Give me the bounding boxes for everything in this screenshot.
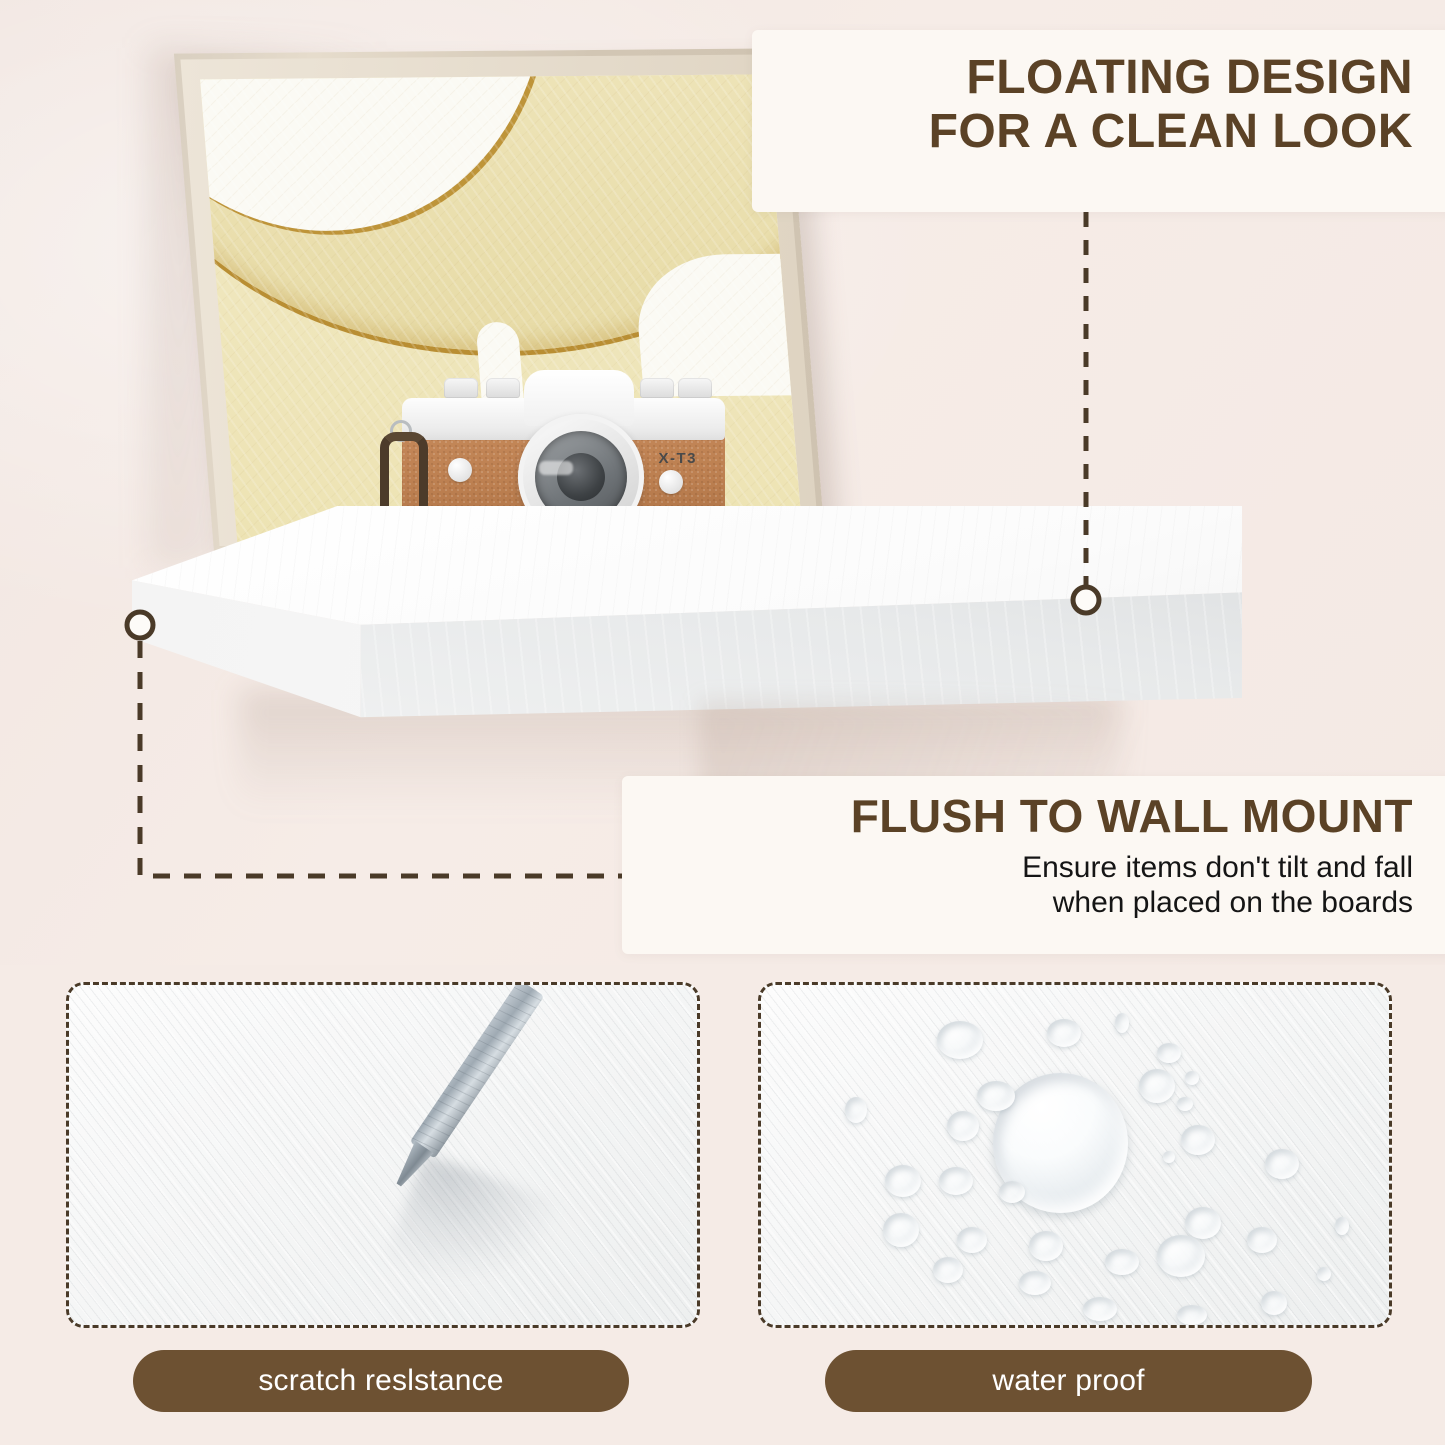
water-droplet (1105, 1249, 1139, 1275)
water-droplet (883, 1213, 919, 1247)
feature-image-scratch-resistance (66, 982, 700, 1328)
callout-title-line-1: FLOATING DESIGN (752, 30, 1445, 104)
water-droplet (1139, 1069, 1175, 1103)
water-droplet (1157, 1235, 1205, 1277)
callout-title-line-1: FLUSH TO WALL MOUNT (622, 776, 1445, 842)
water-droplet (1019, 1271, 1051, 1295)
wood-grain-surface (69, 985, 697, 1325)
camera-lens-reflection (539, 461, 573, 475)
water-droplet (999, 1181, 1025, 1203)
feature-panels: scratch reslstance water proof (0, 968, 1445, 1445)
water-droplet (947, 1111, 979, 1141)
callout-subtitle-line-2: when placed on the boards (622, 885, 1445, 920)
water-droplet (957, 1227, 987, 1253)
water-droplet (1157, 1043, 1181, 1063)
callout-card-floating-design: FLOATING DESIGN FOR A CLEAN LOOK (752, 30, 1445, 212)
camera-dial (640, 378, 674, 398)
water-droplet (1265, 1149, 1299, 1179)
water-droplet (977, 1081, 1015, 1111)
water-droplet (1247, 1227, 1277, 1253)
water-droplet (1185, 1207, 1221, 1239)
water-droplet (1177, 1097, 1193, 1111)
water-droplet (939, 1167, 973, 1195)
feature-pill-water-proof[interactable]: water proof (825, 1350, 1312, 1412)
water-droplet (1181, 1125, 1215, 1155)
water-droplet (885, 1165, 921, 1197)
water-droplet (1083, 1297, 1117, 1321)
water-droplet (1317, 1267, 1331, 1281)
camera-dial (444, 378, 478, 398)
water-droplet (845, 1097, 867, 1123)
water-droplet (1335, 1217, 1349, 1235)
callout-card-flush-mount: FLUSH TO WALL MOUNT Ensure items don't t… (622, 776, 1445, 954)
water-droplet (1177, 1305, 1207, 1325)
water-droplet (1029, 1231, 1063, 1261)
camera-button (448, 458, 472, 482)
callout-title-line-2: FOR A CLEAN LOOK (752, 104, 1445, 158)
infographic-stage: X-T3 FLOATING DESIGN FOR A CLEAN LOOK FL… (0, 0, 1445, 1445)
water-droplet (1185, 1071, 1199, 1085)
water-droplet (1115, 1013, 1129, 1033)
camera-model-label: X-T3 (658, 450, 697, 467)
feature-pill-label: scratch reslstance (258, 1364, 503, 1398)
callout-subtitle-line-1: Ensure items don't tilt and fall (622, 842, 1445, 885)
water-droplet (1163, 1151, 1175, 1163)
water-droplet (937, 1021, 983, 1059)
feature-pill-label: water proof (992, 1364, 1144, 1398)
camera-dial (678, 378, 712, 398)
water-droplet (933, 1257, 963, 1283)
water-droplet (1047, 1019, 1081, 1047)
camera-button (659, 470, 683, 494)
feature-image-water-proof (758, 982, 1392, 1328)
water-droplet (1261, 1291, 1287, 1315)
feature-pill-scratch-resistance[interactable]: scratch reslstance (133, 1350, 629, 1412)
camera-dial (486, 378, 520, 398)
